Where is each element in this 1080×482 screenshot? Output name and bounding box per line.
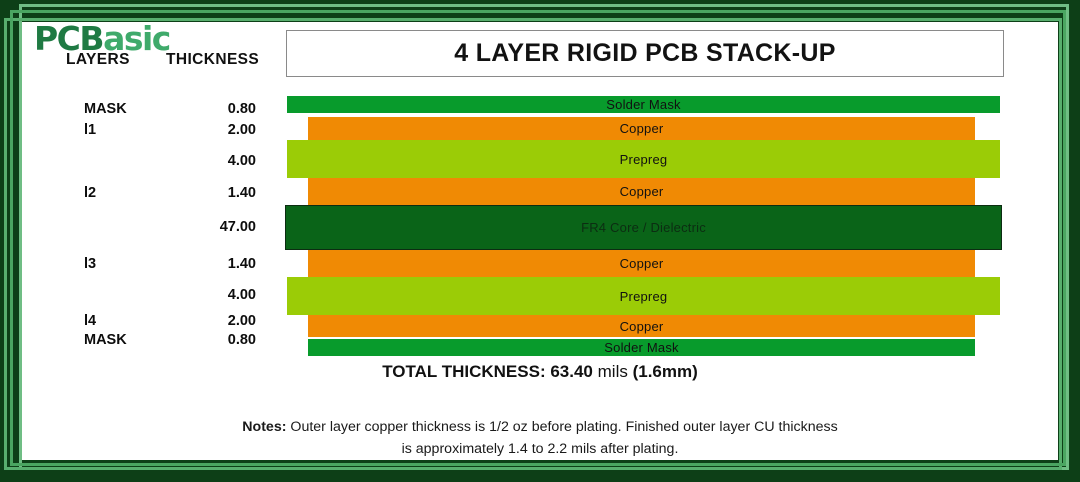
layer-stack-diagram: Solder MaskCopperPrepregCopperFR4 Core /… xyxy=(28,28,1052,454)
layer-material-label: Solder Mask xyxy=(604,340,678,355)
notes-label: Notes: xyxy=(242,419,286,435)
total-thickness-mm: (1.6mm) xyxy=(633,362,698,381)
total-thickness-unit: mils xyxy=(598,362,628,381)
layer-material-label: Prepreg xyxy=(620,152,668,167)
total-thickness: TOTAL THICKNESS: 63.40 mils (1.6mm) xyxy=(28,362,1052,382)
layer-bar: Prepreg xyxy=(287,277,1000,315)
layer-bar: FR4 Core / Dielectric xyxy=(285,205,1002,250)
pcb-stackup-infographic: PCBasic LAYERS THICKNESS 4 LAYER RIGID P… xyxy=(0,0,1080,482)
layer-material-label: Copper xyxy=(620,256,664,271)
layer-material-label: Copper xyxy=(620,121,664,136)
layer-material-label: Prepreg xyxy=(620,289,668,304)
layer-bar: Copper xyxy=(308,178,975,205)
layer-material-label: Solder Mask xyxy=(606,97,680,112)
notes-line-1: Outer layer copper thickness is 1/2 oz b… xyxy=(290,419,837,435)
total-thickness-value: TOTAL THICKNESS: 63.40 xyxy=(382,362,593,381)
layer-material-label: FR4 Core / Dielectric xyxy=(581,220,706,235)
layer-bar: Solder Mask xyxy=(287,96,1000,113)
layer-bar: Solder Mask xyxy=(308,339,975,356)
layer-bar: Copper xyxy=(308,117,975,140)
layer-material-label: Copper xyxy=(620,184,664,199)
notes-block: Notes: Outer layer copper thickness is 1… xyxy=(28,416,1052,460)
layer-material-label: Copper xyxy=(620,319,664,334)
content-area: PCBasic LAYERS THICKNESS 4 LAYER RIGID P… xyxy=(28,28,1052,454)
notes-line-2: is approximately 1.4 to 2.2 mils after p… xyxy=(28,438,1052,460)
layer-bar: Copper xyxy=(308,250,975,277)
layer-bar: Copper xyxy=(308,315,975,337)
layer-bar: Prepreg xyxy=(287,140,1000,178)
